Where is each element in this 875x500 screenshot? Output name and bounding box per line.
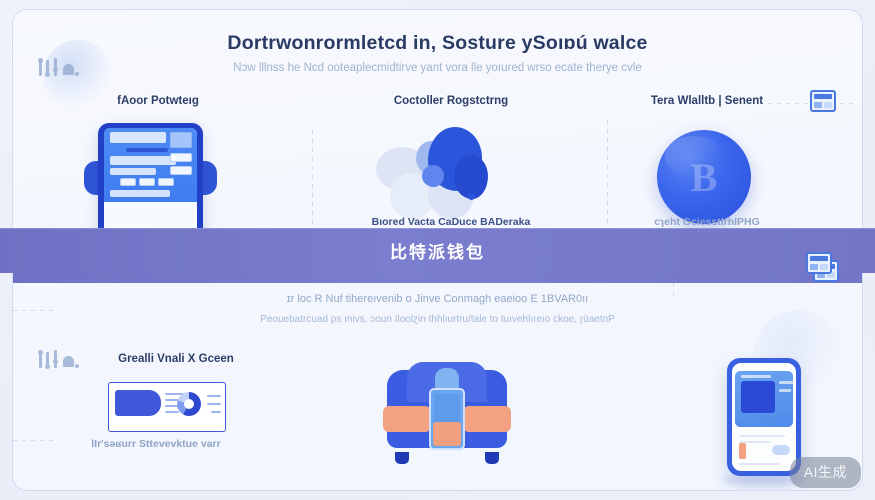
person-phone-device [429, 388, 465, 450]
phone2-pill-chip [772, 445, 790, 455]
phone2-hero-panel [735, 371, 793, 427]
person-leg-right [485, 452, 499, 464]
page-subtitle: Nɔw lllnss he Ncd ooteaplecmidtirve yant… [13, 62, 862, 74]
top-column-2-caption: Bıored Vacta CaDuce BADeraka [351, 216, 551, 228]
person-arm-right [463, 406, 511, 432]
title-banner-overlay: 比特派钱包 [0, 228, 875, 273]
window-panel-icon [810, 90, 836, 112]
page-title: Dortrwonrormletcd in, Sosture ySoıɒú wal… [13, 32, 862, 55]
bottom-column-1-caption: lIr'səʁurr Sttevevktue varr [41, 438, 271, 450]
ai-watermark: AI生成 [790, 457, 861, 488]
blue-coin-illustration: B [657, 130, 751, 224]
infographic-canvas: Dortrwonrormletcd in, Sosture ySoıɒú wal… [0, 0, 875, 500]
mobile-app-illustration [727, 358, 801, 476]
person-with-phone-illustration [387, 362, 507, 462]
top-column-3-heading: Tera Wlalltb | Senent [617, 95, 797, 107]
mid-text-line-2: Peouebatrcuad ps ınivs, ɔoun Iloolɀin th… [13, 314, 862, 325]
tools-cluster-icon [39, 58, 79, 80]
guide-rule-horizontal-2 [13, 310, 59, 311]
person-phone-screen [434, 394, 460, 424]
analytics-card-block [115, 390, 161, 416]
person-leg-left [395, 452, 409, 464]
person-hands [433, 422, 461, 446]
coin-letter-b-icon: B [657, 130, 751, 224]
phone2-hero-tile [741, 381, 775, 413]
phone2-body [727, 358, 801, 476]
phone2-notch [753, 358, 775, 363]
bottom-column-1-heading: Grealli Vnali X Gceen [71, 353, 281, 365]
top-column-1-heading: fAoor Potwteıg [58, 95, 258, 107]
analytics-pie-chart [177, 392, 201, 416]
window-panel-icon-3 [806, 252, 832, 274]
analytics-card-frame [108, 382, 226, 432]
mid-text-line-1: ɪr loc R Nuf tihereıvenib o Jinve Conmag… [13, 293, 862, 305]
top-column-2-heading: Coctoller Rogstctrng [351, 95, 551, 107]
blob-cluster-illustration [376, 125, 516, 230]
top-column-3-caption: cɿeht GciesstIrhIPHG [617, 216, 797, 228]
banner-text-overlay: 比特派钱包 [0, 228, 875, 273]
phone-screen-header [104, 128, 197, 202]
phone2-badge [739, 443, 746, 459]
person-arm-left [383, 406, 431, 432]
phone2-screen [732, 363, 796, 471]
analytics-card-illustration [108, 382, 226, 432]
